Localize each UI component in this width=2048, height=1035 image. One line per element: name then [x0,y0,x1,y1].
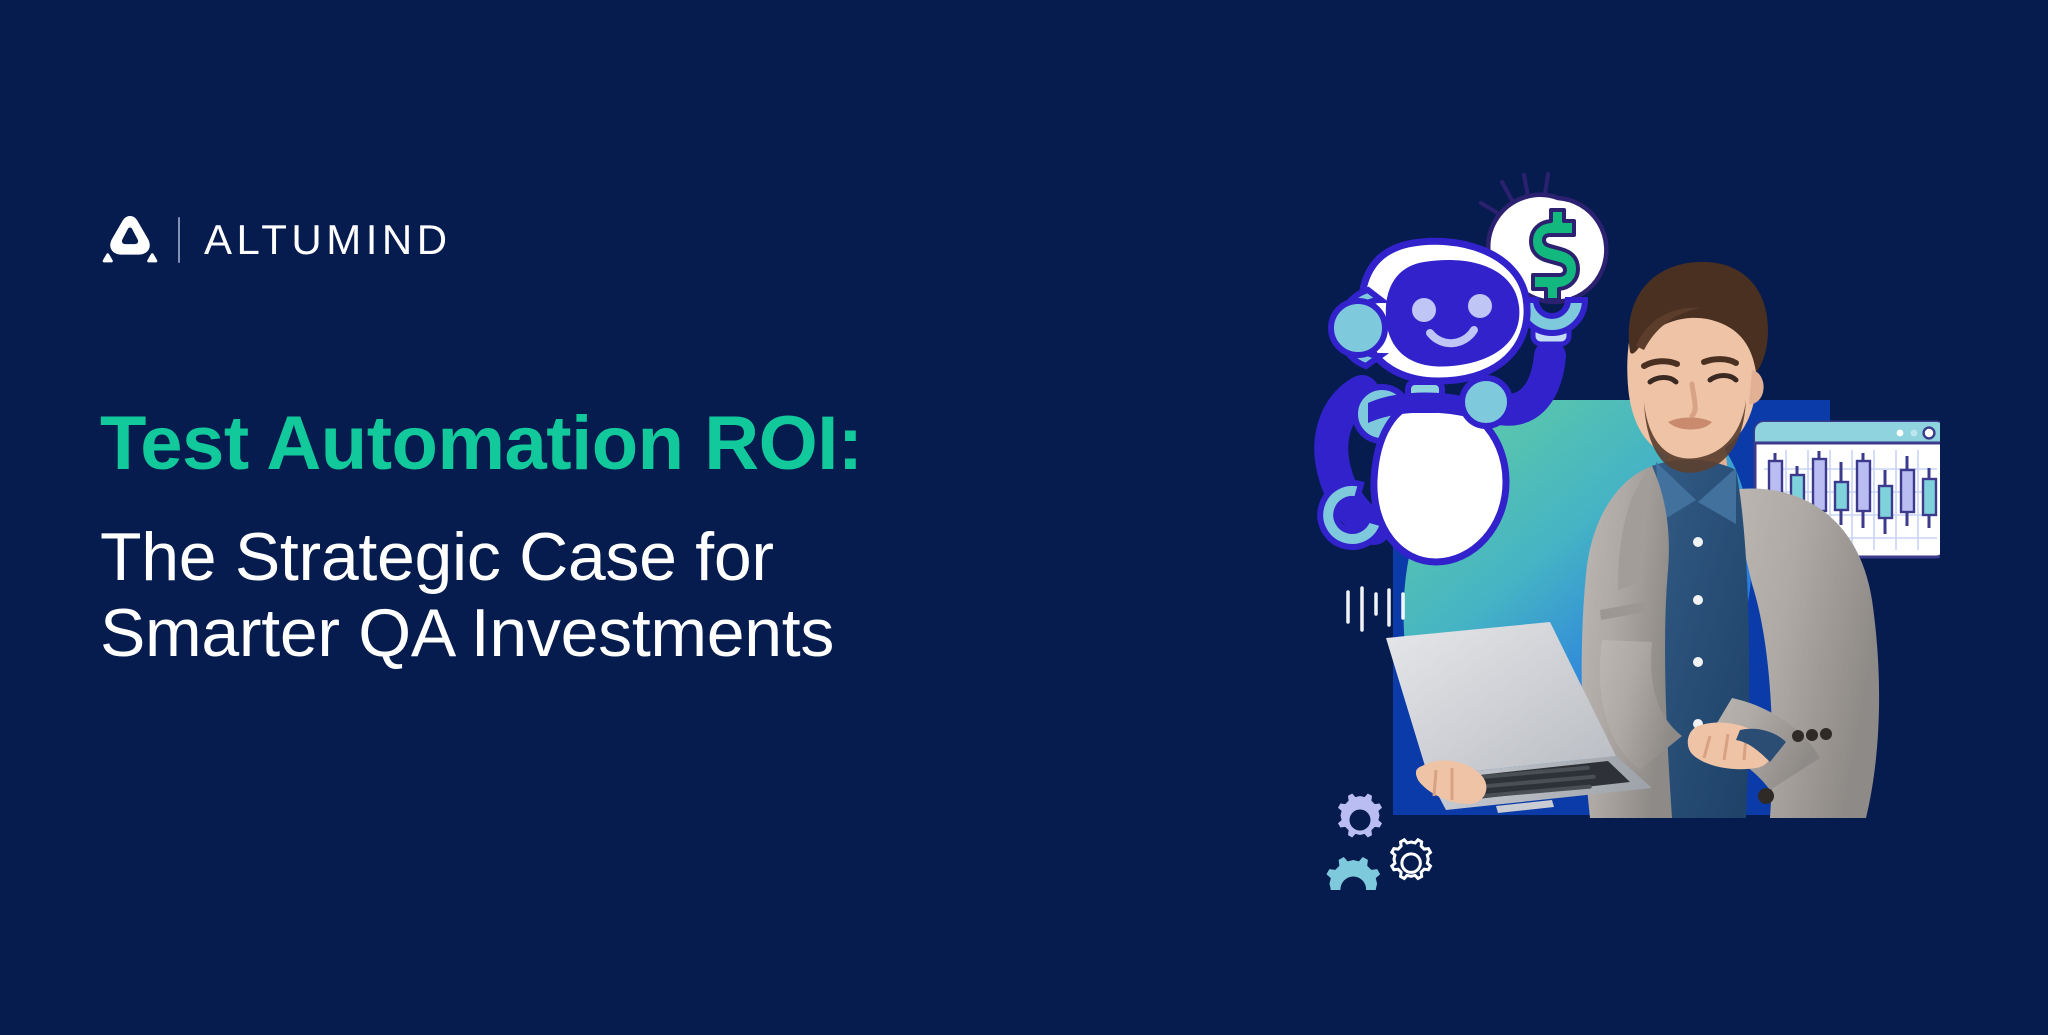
hero-illustration [1300,170,1940,890]
gear-icon-outline-white [1392,840,1431,879]
brand-lockup[interactable]: ALTUMIND [98,208,452,272]
brand-divider [178,217,180,263]
page-subtitle: The Strategic Case for Smarter QA Invest… [100,519,1240,671]
altumind-triangle-logo-icon [98,212,162,268]
robot-eye-left [1412,298,1436,322]
window-dot-teal [1911,430,1918,437]
gear-icon-teal [1326,857,1380,890]
window-dot-white [1897,430,1904,437]
hero-copy: Test Automation ROI: The Strategic Case … [100,404,1240,671]
hero-banner: ALTUMIND Test Automation ROI: The Strate… [0,0,2048,1035]
dollar-sign-icon [1531,210,1578,300]
page-title-accent: Test Automation ROI: [100,404,1240,485]
gear-icon-periwinkle [1338,794,1382,838]
robot-eye-right [1468,294,1492,318]
subtitle-line-1: The Strategic Case for [100,519,1240,595]
subtitle-line-2: Smarter QA Investments [100,595,1240,671]
window-dot-ring [1924,428,1935,439]
brand-name: ALTUMIND [204,219,452,261]
robot-face-visor-icon [1386,260,1520,367]
